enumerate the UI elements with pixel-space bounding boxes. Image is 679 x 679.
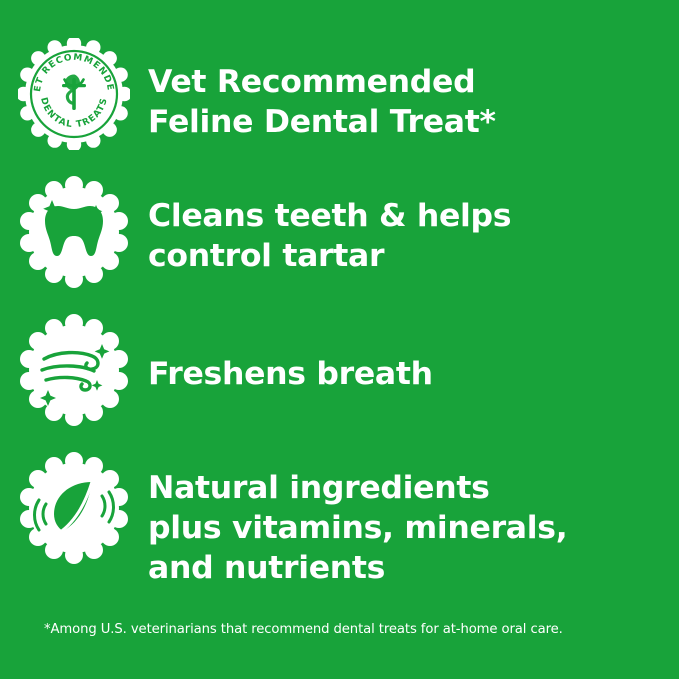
feature-item: Cleans teeth & helps control tartar xyxy=(0,174,679,288)
feature-list: VET RECOMMENDED DENTAL TREATS Vet Recomm… xyxy=(0,36,679,612)
fresh-breath-swirl-icon xyxy=(18,314,130,426)
footnote-text: *Among U.S. veterinarians that recommend… xyxy=(44,622,563,637)
badge-container xyxy=(0,312,148,426)
feature-label: Freshens breath xyxy=(148,312,433,394)
badge-container xyxy=(0,174,148,288)
badge-container xyxy=(0,450,148,564)
vet-recommended-dental-treats-seal-icon: VET RECOMMENDED DENTAL TREATS xyxy=(18,38,130,150)
feature-label: Vet Recommended Feline Dental Treat* xyxy=(148,36,496,142)
sparkling-tooth-icon xyxy=(18,176,130,288)
feature-item: VET RECOMMENDED DENTAL TREATS Vet Recomm… xyxy=(0,36,679,150)
feature-item: Natural ingredients plus vitamins, miner… xyxy=(0,450,679,588)
feature-label: Natural ingredients plus vitamins, miner… xyxy=(148,450,567,588)
leaf-icon xyxy=(18,452,130,564)
product-feature-panel: VET RECOMMENDED DENTAL TREATS Vet Recomm… xyxy=(0,0,679,679)
feature-label: Cleans teeth & helps control tartar xyxy=(148,174,511,276)
badge-container: VET RECOMMENDED DENTAL TREATS xyxy=(0,36,148,150)
feature-item: Freshens breath xyxy=(0,312,679,426)
